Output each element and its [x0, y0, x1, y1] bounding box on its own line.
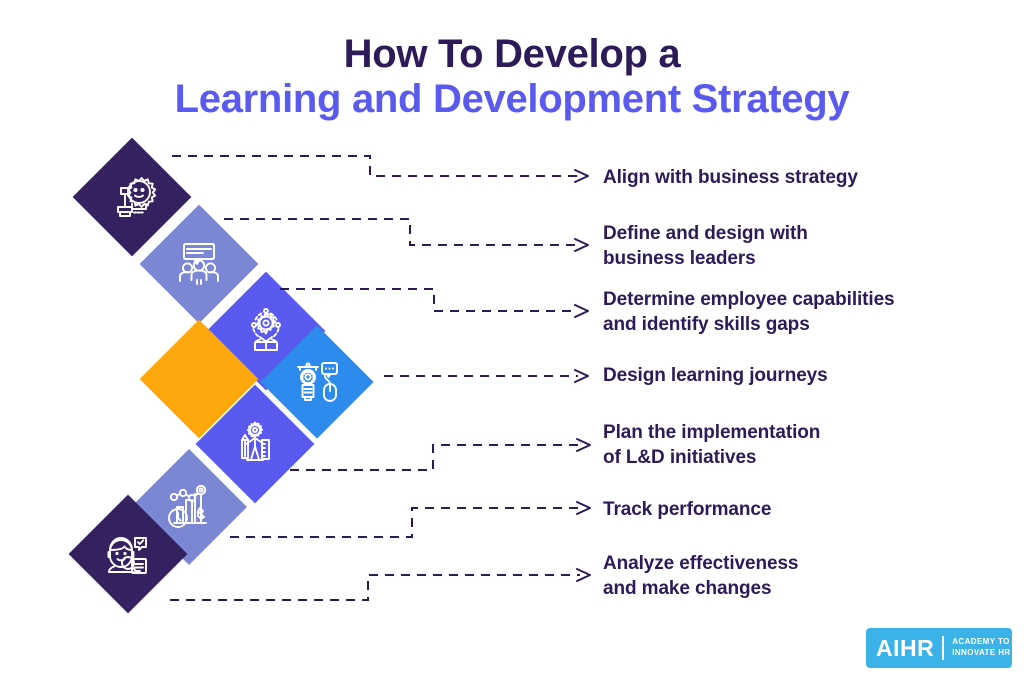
infographic-canvas: How To Develop a Learning and Developmen… [0, 0, 1024, 680]
page-title: How To Develop a Learning and Developmen… [0, 34, 1024, 121]
step-label-4: Design learning journeys [603, 363, 828, 388]
step-label-2: Define and design with business leaders [603, 221, 808, 272]
logo-tagline-line-2: INNOVATE HR [952, 648, 1010, 659]
connector-step-6 [228, 500, 598, 546]
logo-wordmark: AIHR [866, 635, 934, 662]
step-label-1: Align with business strategy [603, 165, 858, 190]
review-search-icon [102, 528, 154, 580]
logo-divider [942, 636, 944, 660]
title-line-1: How To Develop a [0, 34, 1024, 76]
connector-step-2 [222, 213, 597, 261]
e-learning-mouse-icon [291, 356, 343, 408]
step-label-6: Track performance [603, 497, 771, 522]
step-label-3: Determine employee capabilities and iden… [603, 287, 895, 338]
aihr-logo[interactable]: AIHR ACADEMY TO INNOVATE HR [866, 628, 1012, 668]
connector-step-5 [288, 437, 598, 477]
logo-tagline: ACADEMY TO INNOVATE HR [952, 637, 1010, 659]
connector-step-3 [278, 283, 596, 331]
connector-step-1 [170, 150, 595, 190]
step-label-5: Plan the implementation of L&D initiativ… [603, 420, 820, 471]
connector-step-7 [168, 567, 598, 609]
team-meeting-icon [173, 238, 225, 290]
title-line-2: Learning and Development Strategy [0, 78, 1024, 121]
award-person-icon [106, 171, 158, 223]
step-label-7: Analyze effectiveness and make changes [603, 551, 798, 602]
analytics-chart-icon [163, 481, 215, 533]
blueprint-person-icon [229, 418, 281, 470]
connector-step-4 [382, 366, 597, 386]
logo-tagline-line-1: ACADEMY TO [952, 637, 1010, 648]
